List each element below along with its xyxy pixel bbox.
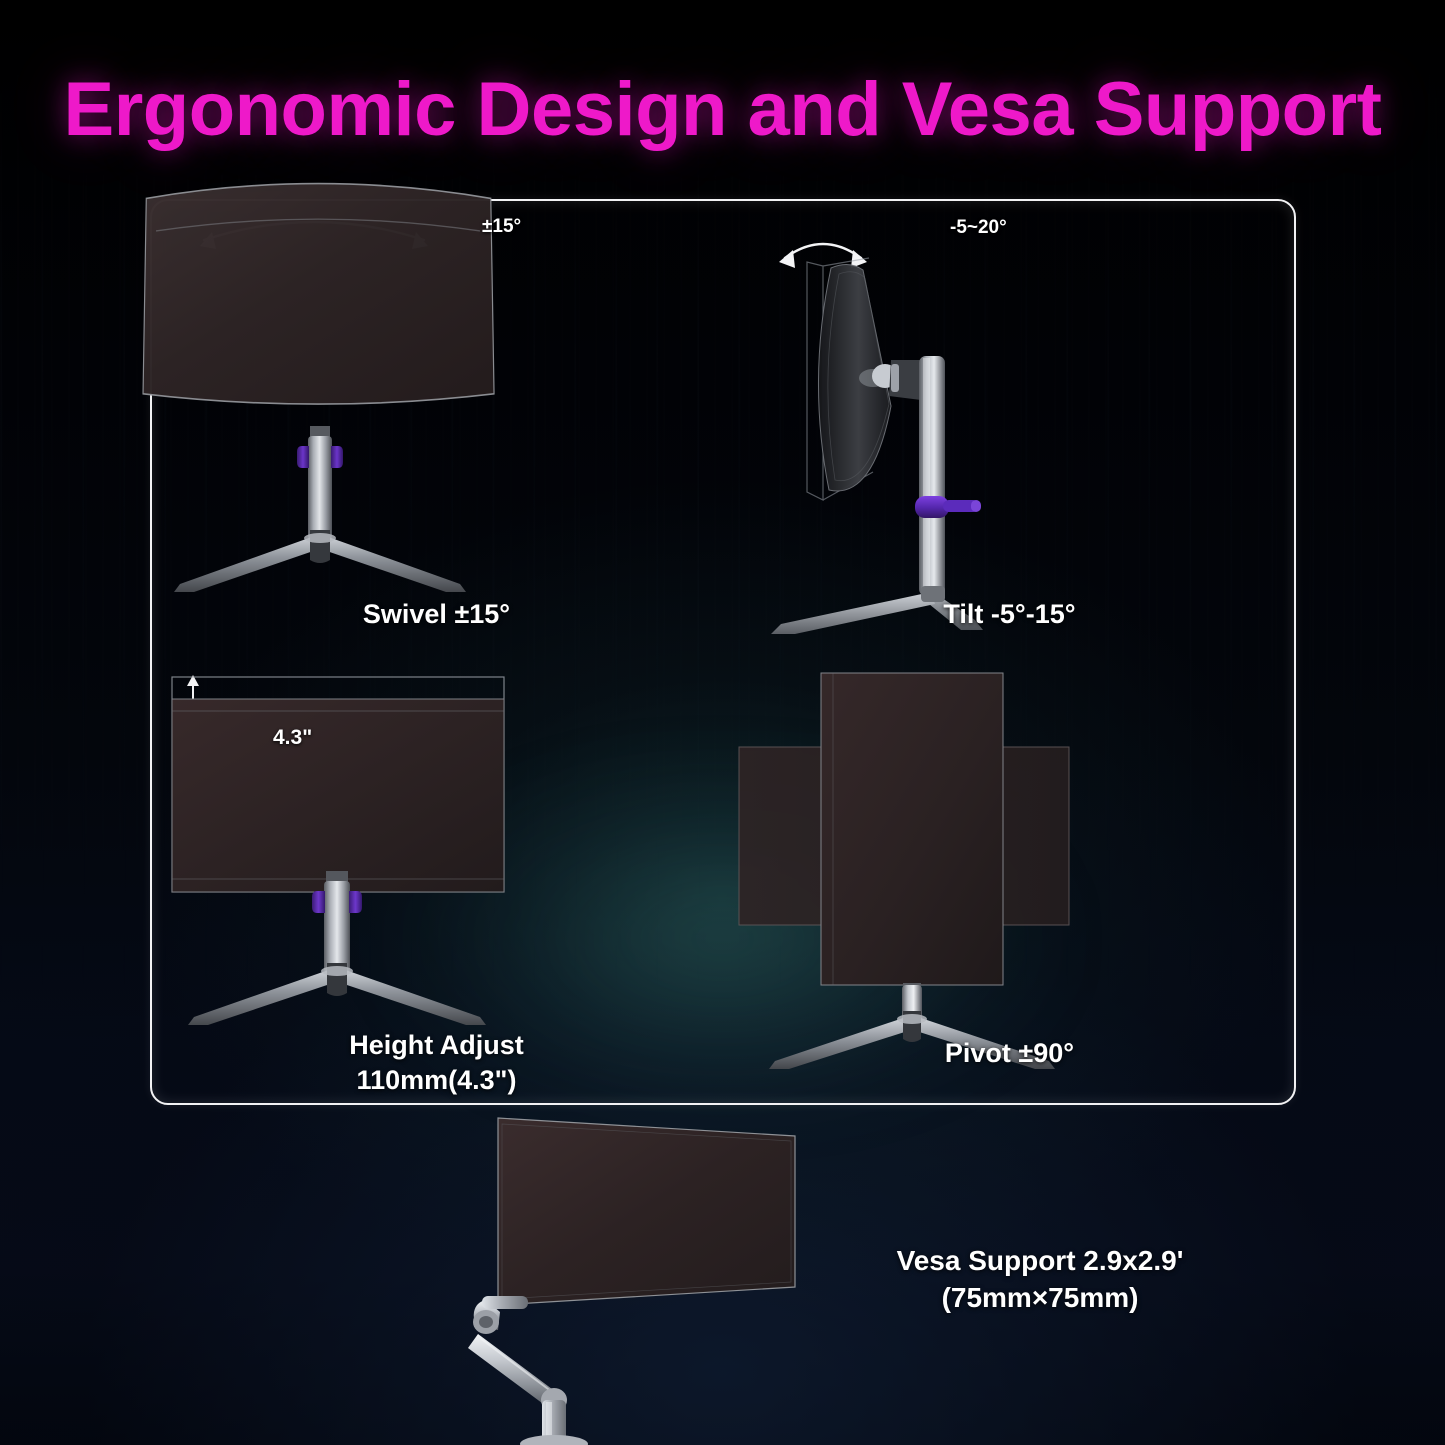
height-measure-annotation: 4.3" [273, 726, 312, 750]
tilt-column [919, 356, 945, 596]
purple-accent-right [331, 446, 343, 468]
purple-accent-right [349, 891, 362, 913]
tilt-angle-annotation: -5~20° [950, 217, 1007, 239]
tripod-base [188, 963, 486, 1025]
purple-accent-left [297, 446, 309, 468]
tilt-illustration [723, 200, 1296, 655]
swivel-illustration [150, 200, 723, 655]
page-title: Ergonomic Design and Vesa Support [0, 66, 1445, 153]
swivel-caption: Swivel ±15° [150, 597, 723, 632]
tilt-arc-arrow-icon [779, 244, 867, 268]
pivot-monitor-screen-portrait [821, 673, 1003, 985]
vesa-caption: Vesa Support 2.9x2.9' (75mm×75mm) [830, 1243, 1250, 1317]
pivot-caption: Pivot ±90° [723, 1036, 1296, 1071]
purple-ring-accent [915, 496, 981, 518]
swivel-angle-annotation: ±15° [482, 216, 521, 238]
height-adjust-caption: Height Adjust 110mm(4.3") [150, 1028, 723, 1097]
vesa-monitor-arm [468, 1296, 588, 1445]
purple-accent-left [312, 891, 325, 913]
tripod-base [174, 530, 466, 592]
height-monitor-screen [172, 699, 504, 892]
vesa-monitor-screen [498, 1118, 795, 1305]
tilt-caption: Tilt -5°-15° [723, 597, 1296, 632]
